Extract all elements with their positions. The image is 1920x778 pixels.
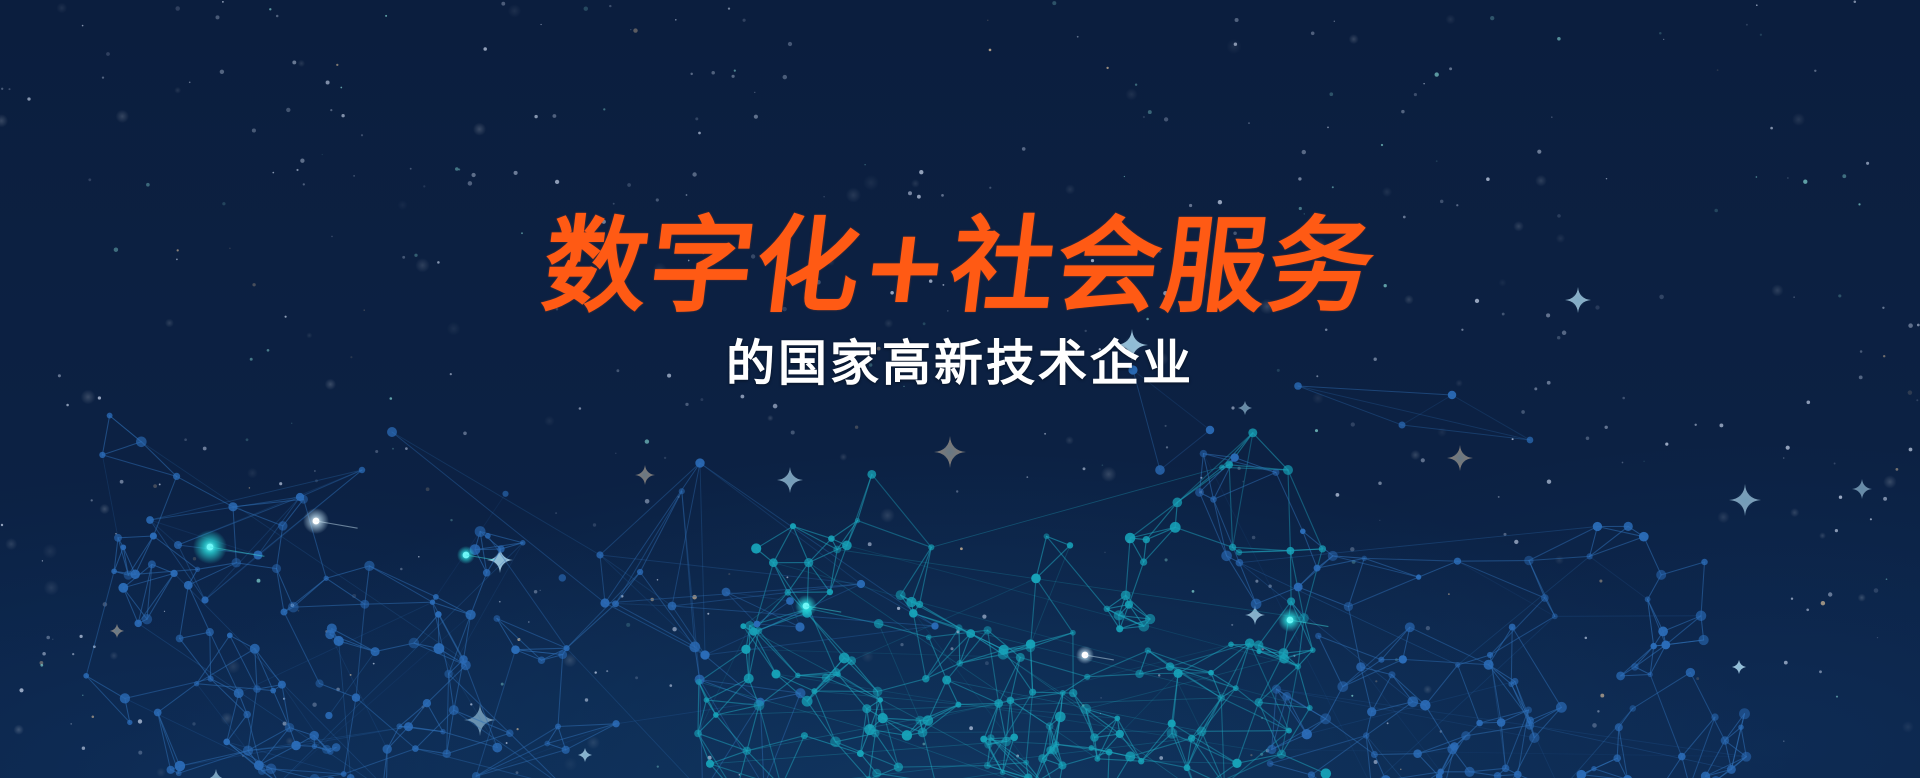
- page-subtitle: 的国家高新技术企业: [0, 334, 1920, 392]
- banner-text-block: 数字化+社会服务 的国家高新技术企业: [0, 212, 1920, 392]
- hero-banner: 数字化+社会服务 的国家高新技术企业: [0, 0, 1920, 778]
- page-title: 数字化+社会服务: [538, 212, 1382, 320]
